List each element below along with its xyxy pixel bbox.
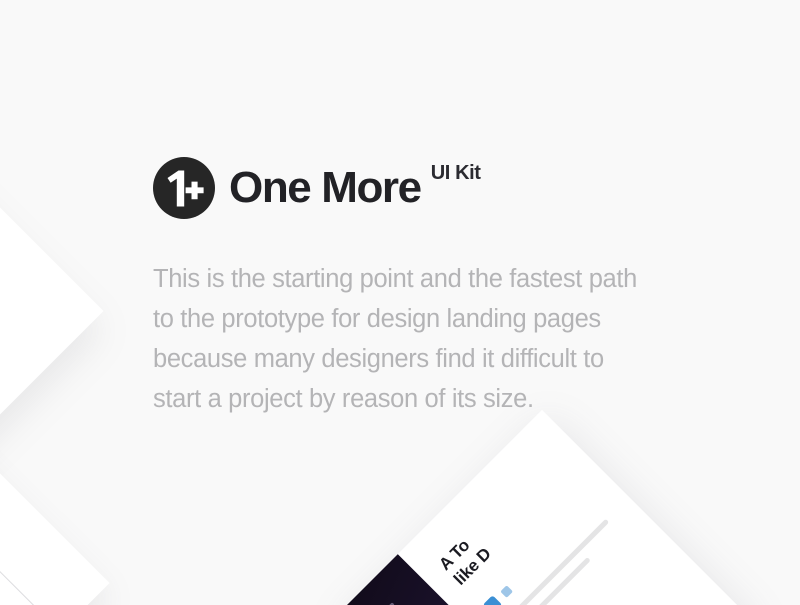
intro-paragraph: This is the starting point and the faste… [153,259,653,419]
one-plus-logo-icon [153,157,215,219]
poster-canvas: A Tolike D One More UI Kit This is the s… [0,0,800,605]
brand-lockup: One More UI Kit [153,155,673,221]
brand-wordmark: One More [229,166,421,210]
preview-accent-swatch-soft [500,585,513,598]
decor-card-top-left [0,163,103,460]
brand-kicker-ui-kit: UI Kit [431,163,481,183]
decor-hairline [0,482,48,605]
decor-card-bottom-left [0,420,110,605]
hero-content: One More UI Kit This is the starting poi… [153,155,673,445]
preview-accent-swatch [483,595,503,605]
